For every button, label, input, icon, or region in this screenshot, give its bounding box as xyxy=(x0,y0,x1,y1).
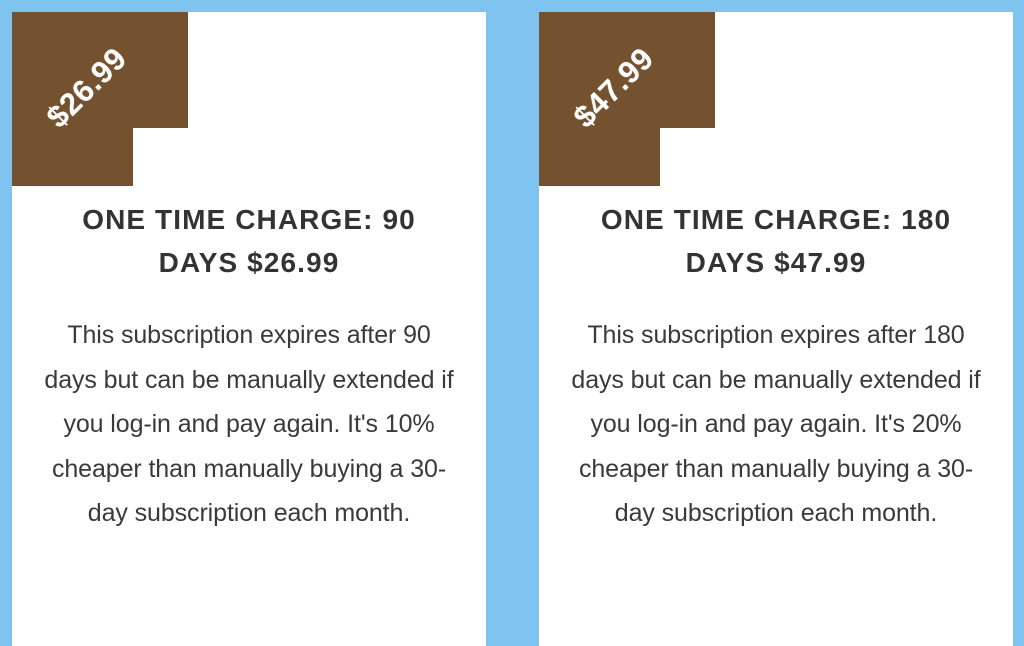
card-content-1: ONE TIME CHARGE: 90 DAYS $26.99 This sub… xyxy=(12,12,486,536)
card-top-margin-2 xyxy=(539,0,1013,12)
card-title-1: ONE TIME CHARGE: 90 DAYS $26.99 xyxy=(42,12,456,284)
card-title-2: ONE TIME CHARGE: 180 DAYS $47.99 xyxy=(569,12,983,284)
page-left-margin xyxy=(0,0,12,646)
pricing-card-90-days[interactable]: $26.99 ONE TIME CHARGE: 90 DAYS $26.99 T… xyxy=(12,12,486,646)
card-gutter xyxy=(486,0,539,646)
pricing-card-column-1: $26.99 ONE TIME CHARGE: 90 DAYS $26.99 T… xyxy=(12,0,486,646)
pricing-cards-page: $26.99 ONE TIME CHARGE: 90 DAYS $26.99 T… xyxy=(0,0,1024,646)
card-description-2: This subscription expires after 180 days… xyxy=(569,284,983,536)
pricing-card-column-2: $47.99 ONE TIME CHARGE: 180 DAYS $47.99 … xyxy=(539,0,1013,646)
card-description-1: This subscription expires after 90 days … xyxy=(42,284,456,536)
card-top-margin-1 xyxy=(12,0,486,12)
card-content-2: ONE TIME CHARGE: 180 DAYS $47.99 This su… xyxy=(539,12,1013,536)
page-right-margin xyxy=(1013,0,1024,646)
pricing-card-180-days[interactable]: $47.99 ONE TIME CHARGE: 180 DAYS $47.99 … xyxy=(539,12,1013,646)
